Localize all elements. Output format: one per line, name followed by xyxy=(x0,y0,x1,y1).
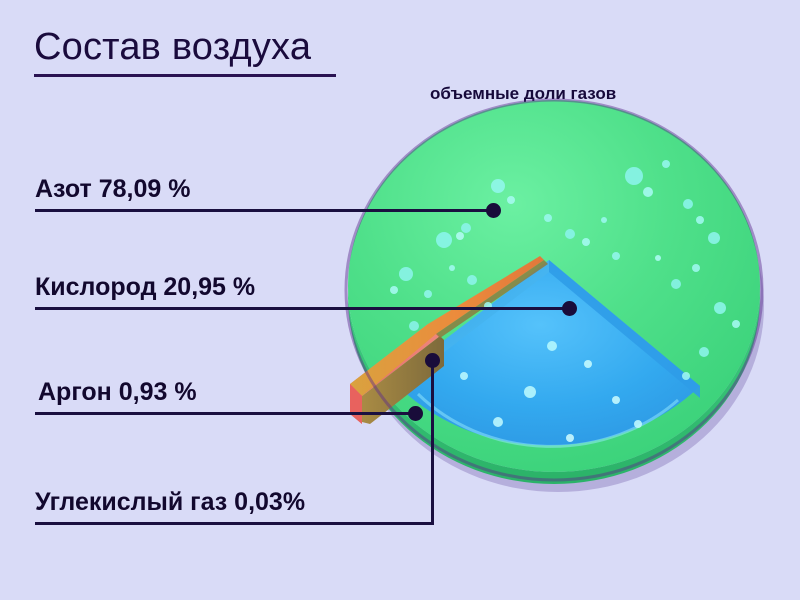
leader-dot-nitrogen xyxy=(486,203,501,218)
callout-oxygen: Кислород 20,95 % xyxy=(35,274,255,300)
slide-canvas: Состав воздуха объемные доли газов xyxy=(0,0,800,600)
label-argon: Аргон 0,93 % xyxy=(38,379,197,405)
leader-dot-argon xyxy=(408,406,423,421)
leader-line-nitrogen xyxy=(35,209,495,212)
leader-line-argon xyxy=(35,412,417,415)
leader-dot-oxygen xyxy=(562,301,577,316)
callout-nitrogen: Азот 78,09 % xyxy=(35,176,190,202)
leader-line-co2-horizontal xyxy=(35,522,434,525)
callout-co2: Углекислый газ 0,03% xyxy=(35,489,305,515)
page-title: Состав воздуха xyxy=(34,26,311,69)
label-oxygen: Кислород 20,95 % xyxy=(35,274,255,300)
label-co2: Углекислый газ 0,03% xyxy=(35,489,305,515)
callout-argon: Аргон 0,93 % xyxy=(38,379,197,405)
pie-chart xyxy=(348,108,764,498)
page-title-underline xyxy=(34,74,336,77)
leader-line-co2-vertical xyxy=(431,360,434,525)
leader-line-oxygen xyxy=(35,307,572,310)
label-nitrogen: Азот 78,09 % xyxy=(35,176,190,202)
leader-dot-co2 xyxy=(425,353,440,368)
